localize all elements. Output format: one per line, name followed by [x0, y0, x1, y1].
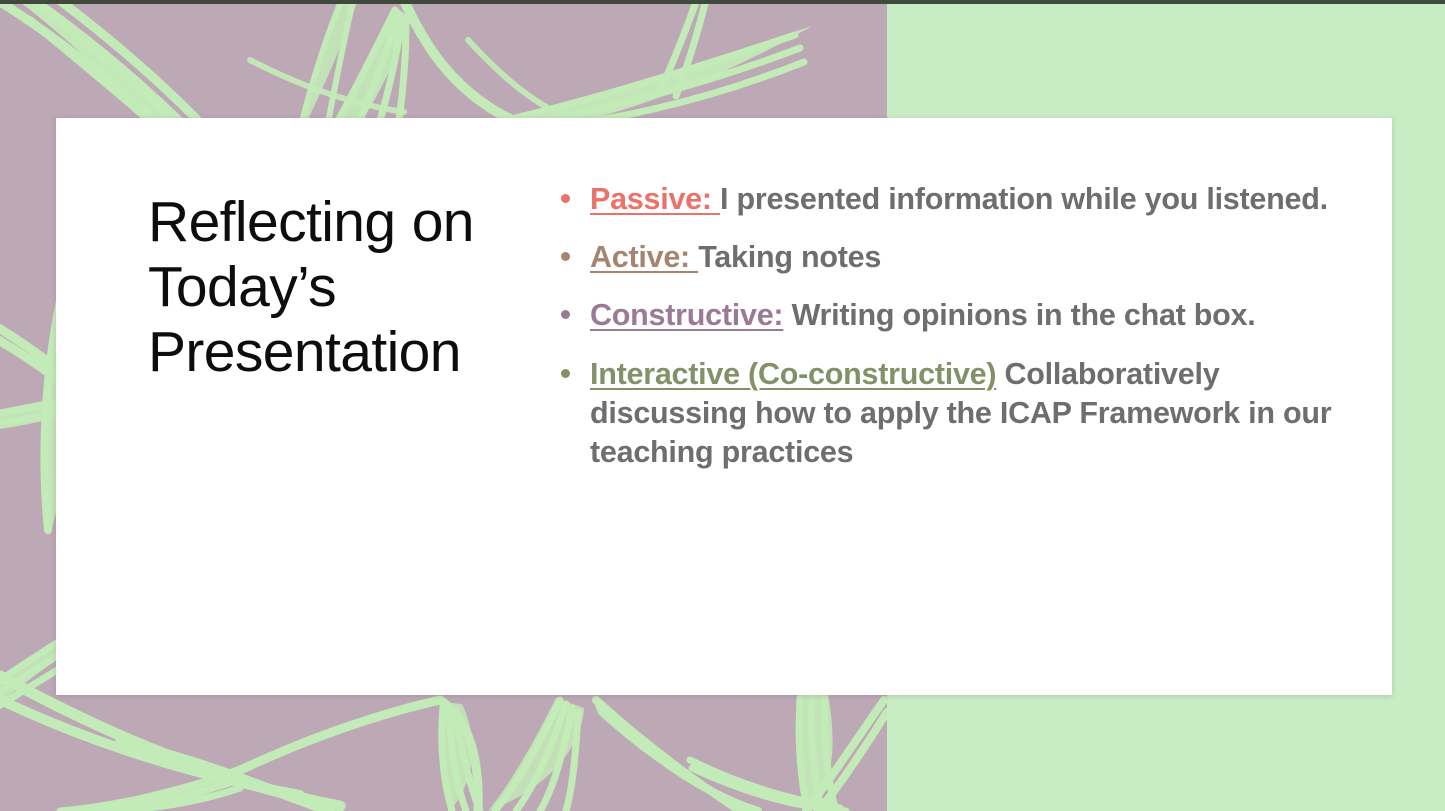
bullet-text-active: Taking notes	[698, 240, 881, 274]
title-column: Reflecting on Today’s Presentation	[56, 118, 554, 385]
list-item: Passive: I presented information while y…	[554, 180, 1332, 219]
bullet-lead-constructive: Constructive:	[590, 298, 783, 332]
presentation-slide: Reflecting on Today’s Presentation Passi…	[0, 0, 1445, 811]
bullet-lead-interactive: Interactive (Co-constructive)	[590, 357, 996, 391]
icap-bullet-list: Passive: I presented information while y…	[554, 180, 1332, 472]
page-title: Reflecting on Today’s Presentation	[148, 190, 554, 385]
bullet-dot-icon	[561, 310, 570, 319]
top-edge-strip	[0, 0, 1445, 4]
bullet-lead-active: Active:	[590, 240, 698, 274]
list-item: Interactive (Co-constructive) Collaborat…	[554, 355, 1332, 473]
bullet-lead-passive: Passive:	[590, 182, 720, 216]
bullet-text-constructive: Writing opinions in the chat box.	[783, 298, 1255, 332]
bullet-dot-icon	[561, 194, 570, 203]
bullet-dot-icon	[561, 369, 570, 378]
slide-content-card: Reflecting on Today’s Presentation Passi…	[56, 118, 1392, 695]
bullet-list-column: Passive: I presented information while y…	[554, 118, 1392, 472]
list-item: Constructive: Writing opinions in the ch…	[554, 296, 1332, 335]
list-item: Active: Taking notes	[554, 238, 1332, 277]
bullet-dot-icon	[561, 252, 570, 261]
bullet-text-passive: I presented information while you listen…	[720, 182, 1328, 216]
